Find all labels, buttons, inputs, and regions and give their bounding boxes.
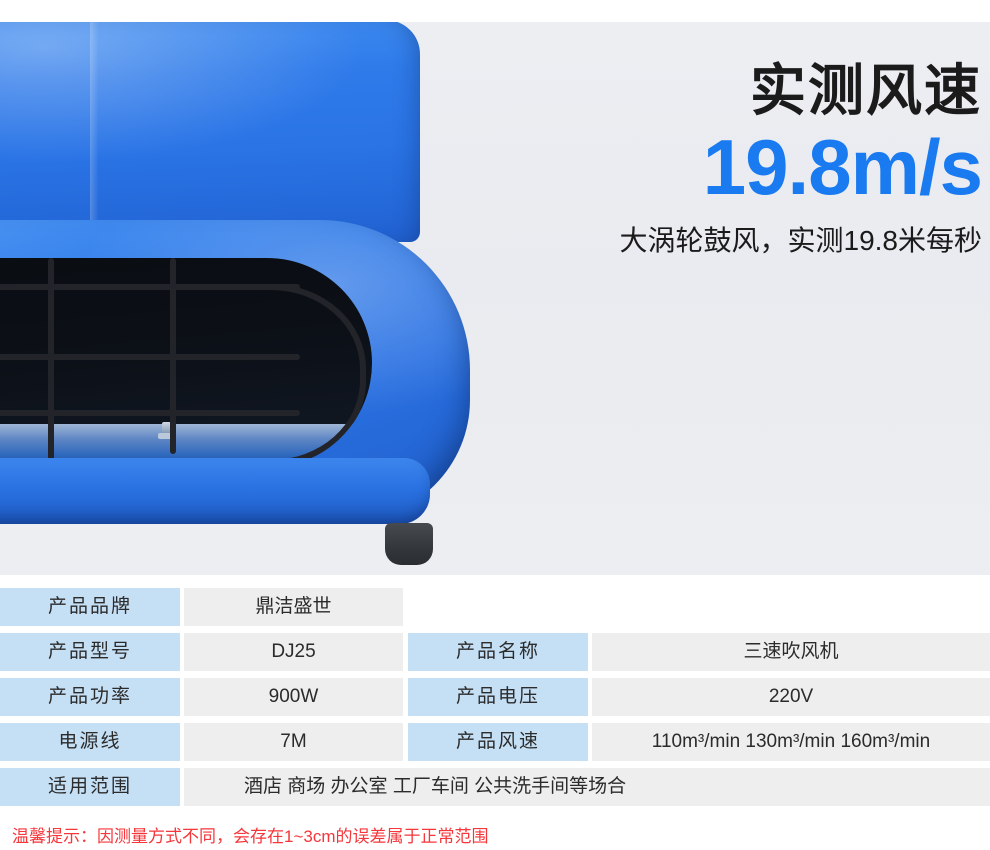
spec-table: 产品品牌 鼎洁盛世 产品型号 DJ25 产品名称 三速吹风机 产品功率 900W… — [0, 588, 990, 813]
rubber-foot — [385, 523, 433, 565]
grille-wire-vertical — [48, 258, 54, 468]
air-intake-cavity — [0, 258, 372, 468]
spec-value: 酒店 商场 办公室 工厂车间 公共洗手间等场合 — [184, 768, 990, 806]
spec-label: 适用范围 — [0, 768, 180, 806]
table-row: 产品功率 900W 产品电压 220V — [0, 678, 990, 716]
spec-label: 产品风速 — [408, 723, 588, 761]
hero-subtitle: 大涡轮鼓风，实测19.8米每秒 — [512, 219, 982, 259]
spec-label: 电源线 — [0, 723, 180, 761]
spec-value: 鼎洁盛世 — [184, 588, 403, 626]
hero-value: 19.8m/s — [512, 125, 982, 211]
spec-label: 产品品牌 — [0, 588, 180, 626]
hero-text-block: 实测风速 19.8m/s 大涡轮鼓风，实测19.8米每秒 — [512, 62, 982, 259]
product-photo-blower — [0, 22, 505, 532]
wire-grille — [0, 258, 372, 468]
table-row: 产品品牌 鼎洁盛世 — [0, 588, 990, 626]
hero-title: 实测风速 — [512, 62, 982, 121]
table-row: 产品型号 DJ25 产品名称 三速吹风机 — [0, 633, 990, 671]
table-row: 适用范围 酒店 商场 办公室 工厂车间 公共洗手间等场合 — [0, 768, 990, 806]
spec-label: 产品型号 — [0, 633, 180, 671]
hero-section: 实测风速 19.8m/s 大涡轮鼓风，实测19.8米每秒 — [0, 22, 990, 575]
spec-value: 7M — [184, 723, 403, 761]
spec-value: 三速吹风机 — [592, 633, 990, 671]
spec-value: DJ25 — [184, 633, 403, 671]
spec-label: 产品功率 — [0, 678, 180, 716]
grille-wire-loop — [240, 284, 366, 466]
spec-label: 产品名称 — [408, 633, 588, 671]
blower-base-lip — [0, 458, 430, 524]
spec-value: 110m³/min 130m³/min 160m³/min — [592, 723, 990, 761]
blower-housing-top — [0, 22, 420, 242]
spec-label: 产品电压 — [408, 678, 588, 716]
spec-value: 900W — [184, 678, 403, 716]
spec-value: 220V — [592, 678, 990, 716]
grille-wire-vertical — [170, 258, 176, 454]
warning-tip-text: 温馨提示：因测量方式不同，会存在1~3cm的误差属于正常范围 — [12, 822, 489, 847]
table-row: 电源线 7M 产品风速 110m³/min 130m³/min 160m³/mi… — [0, 723, 990, 761]
product-detail-page: 实测风速 19.8m/s 大涡轮鼓风，实测19.8米每秒 产品品牌 鼎洁盛世 产… — [0, 0, 990, 850]
